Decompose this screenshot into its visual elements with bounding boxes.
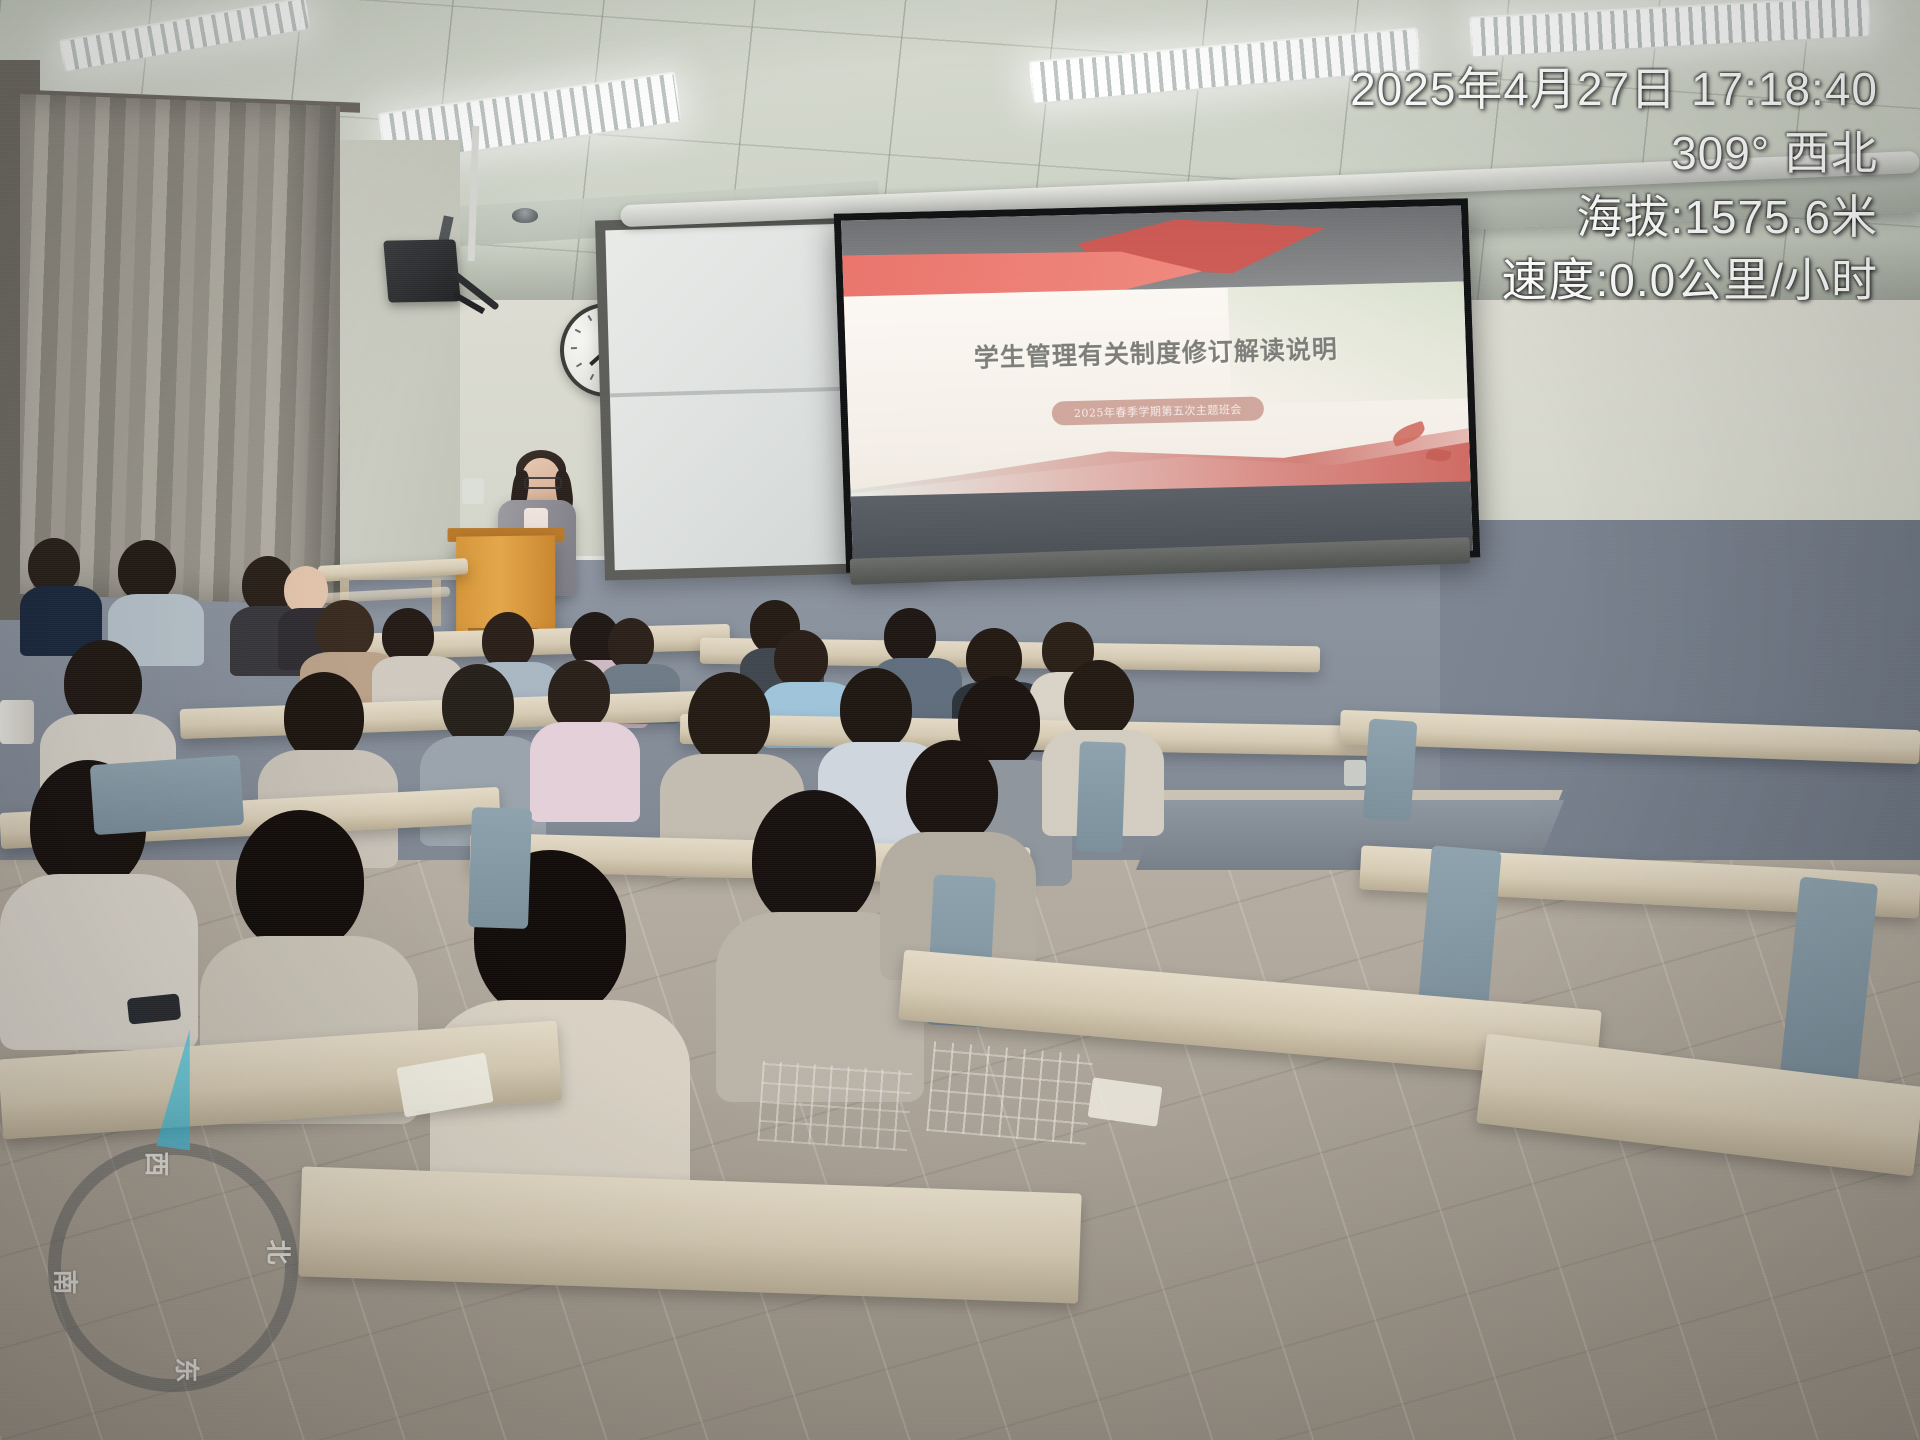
seat-back: [468, 807, 532, 929]
wall-panel: [340, 140, 460, 580]
wall-outlet: [462, 478, 484, 504]
wall-outlet: [1344, 760, 1366, 786]
gps-camera-overlay: 2025年4月27日 17:18:40 309° 西北 海拔:1575.6米 速…: [1350, 60, 1878, 315]
under-desk-basket: [926, 1041, 1093, 1145]
smartphone: [127, 993, 181, 1024]
student: [20, 538, 100, 650]
seat-back: [90, 755, 245, 835]
overlay-speed: 速度:0.0公里/小时: [1350, 251, 1878, 311]
overlay-altitude: 海拔:1575.6米: [1350, 188, 1878, 248]
under-desk-basket: [757, 1061, 912, 1151]
presenter-glasses: [524, 477, 562, 489]
seat-back: [1363, 718, 1418, 821]
seat-back: [1076, 741, 1126, 853]
photo-canvas: 学生管理有关制度修订解读说明 2025年春季学期第五次主题班会: [0, 0, 1920, 1440]
window-curtain: [20, 94, 340, 606]
student: [530, 660, 634, 818]
overlay-datetime: 2025年4月27日 17:18:40: [1350, 60, 1878, 120]
dome-camera-icon: [512, 208, 538, 223]
drink-cup: [0, 700, 34, 744]
overlay-bearing: 309° 西北: [1350, 124, 1878, 184]
